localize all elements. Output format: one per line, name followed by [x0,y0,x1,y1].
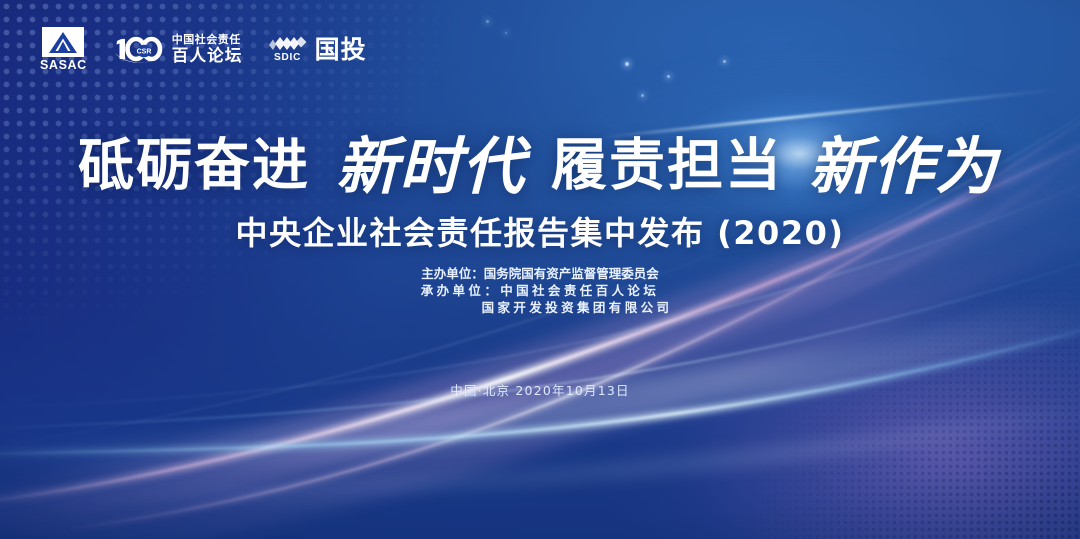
headline-part-2: 新时代 [332,130,529,203]
organizer-line-coorganizer-2: 国家开发投资集团有限公司 [0,299,1080,316]
svg-text:CSR: CSR [136,49,151,56]
organizer-block: 主办单位：国务院国有资产监督管理委员会 承办单位：中国社会责任百人论坛 国家开发… [0,265,1080,316]
event-headline: 砥砺奋进新时代履责担当新作为 [0,116,1080,206]
sdic-mark-group: SDIC [269,35,307,63]
event-subtitle: 中央企业社会责任报告集中发布 (2020) [0,208,1080,254]
headline-part-3: 履责担当 [551,134,783,199]
headline-part-1: 砥砺奋进 [78,134,310,199]
organizer-line-host: 主办单位：国务院国有资产监督管理委员会 [0,265,1080,282]
logo-csr-forum[interactable]: CSR 中国社会责任 百人论坛 [113,32,243,66]
headline-part-4: 新作为 [805,130,1002,203]
logo-sasac[interactable]: SASAC [40,27,87,72]
sdic-name-cn: 国投 [315,37,367,62]
csr-forum-name: 中国社会责任 百人论坛 [172,34,243,64]
event-date-location: 中国·北京 2020年10月13日 [0,380,1080,399]
sasac-triangle-mark [42,27,84,57]
csr-forum-line2: 百人论坛 [172,47,243,64]
sdic-wordmark: SDIC [274,53,301,63]
sponsor-logo-bar: SASAC CSR 中国社会责任 百人论坛 [40,27,367,72]
organizer-line-coorganizer: 承办单位：中国社会责任百人论坛 [0,282,1080,299]
sasac-wordmark: SASAC [40,59,87,72]
logo-sdic[interactable]: SDIC 国投 [269,35,367,63]
sdic-diamond-mark [269,35,307,52]
conference-key-visual: SASAC CSR 中国社会责任 百人论坛 [0,0,1080,539]
csr-100-mark: CSR [113,32,163,66]
csr-forum-line1: 中国社会责任 [172,34,243,46]
